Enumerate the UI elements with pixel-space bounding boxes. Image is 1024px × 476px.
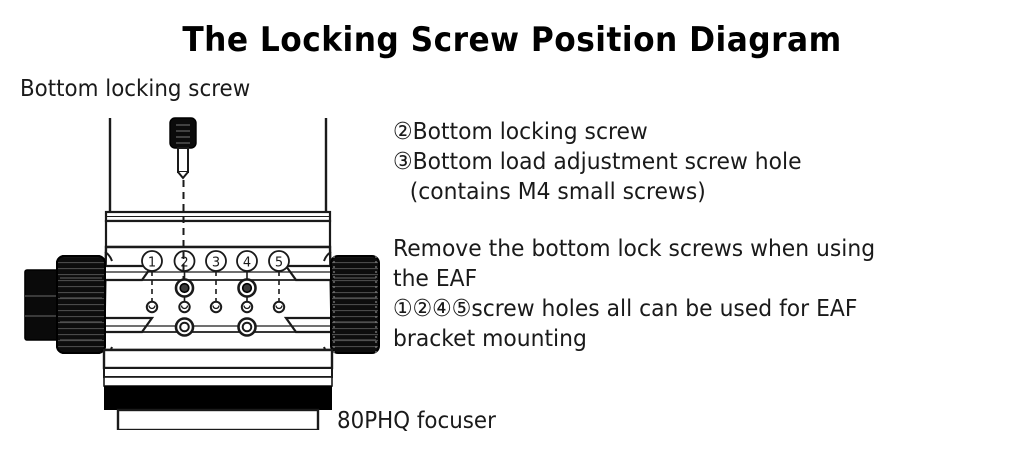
left-focus-knob[interactable]: [25, 256, 105, 353]
diagram-page: The Locking Screw Position Diagram Botto…: [0, 0, 1024, 476]
caption-bottom-locking-screw: Bottom locking screw: [20, 76, 250, 102]
paragraph-1-line-2: the EAF: [393, 263, 979, 293]
large-hole-upper-2: [176, 280, 193, 297]
svg-text:1: 1: [148, 256, 156, 271]
right-focus-knob[interactable]: [331, 256, 379, 353]
paragraph-2-line-2: bracket mounting: [393, 323, 979, 353]
callout-5: 5: [269, 251, 289, 271]
page-title: The Locking Screw Position Diagram: [41, 20, 983, 60]
upper-flange-bands: [106, 212, 330, 247]
svg-text:4: 4: [243, 256, 251, 271]
svg-text:5: 5: [275, 256, 283, 271]
notes-panel: ②Bottom locking screw ③Bottom load adjus…: [393, 116, 1023, 353]
bottom-locking-screw-part[interactable]: [170, 118, 196, 178]
paragraph-1-line-1: Remove the bottom lock screws when using: [393, 233, 979, 263]
small-hole-3: [211, 302, 221, 312]
lower-barrel: [104, 350, 332, 430]
small-hole-2: [179, 302, 189, 312]
note-item-3-sub: (contains M4 small screws): [393, 176, 979, 206]
svg-text:3: 3: [212, 256, 220, 271]
notes-spacer: [393, 206, 1023, 233]
large-hole-upper-4: [239, 280, 256, 297]
large-hole-lower-4: [239, 319, 256, 336]
small-hole-1: [147, 302, 157, 312]
tube-upper-walls: [110, 118, 326, 212]
note-block-paragraph-2: ①②④⑤screw holes all can be used for EAF …: [393, 293, 1023, 353]
note-item-3: ③Bottom load adjustment screw hole: [393, 146, 979, 176]
caption-80phq-focuser: 80PHQ focuser: [337, 408, 496, 434]
small-hole-5: [274, 302, 284, 312]
note-item-2: ②Bottom locking screw: [393, 116, 979, 146]
focuser-diagram: 1 2 3 4 5: [0, 100, 400, 430]
large-hole-lower-2: [176, 319, 193, 336]
callout-1: 1: [142, 251, 162, 271]
note-block-items: ②Bottom locking screw ③Bottom load adjus…: [393, 116, 1023, 206]
callout-4: 4: [237, 251, 257, 271]
note-block-paragraph-1: Remove the bottom lock screws when using…: [393, 233, 1023, 293]
callout-3: 3: [206, 251, 226, 271]
paragraph-2-line-1: ①②④⑤screw holes all can be used for EAF: [393, 293, 979, 323]
small-hole-4: [242, 302, 252, 312]
